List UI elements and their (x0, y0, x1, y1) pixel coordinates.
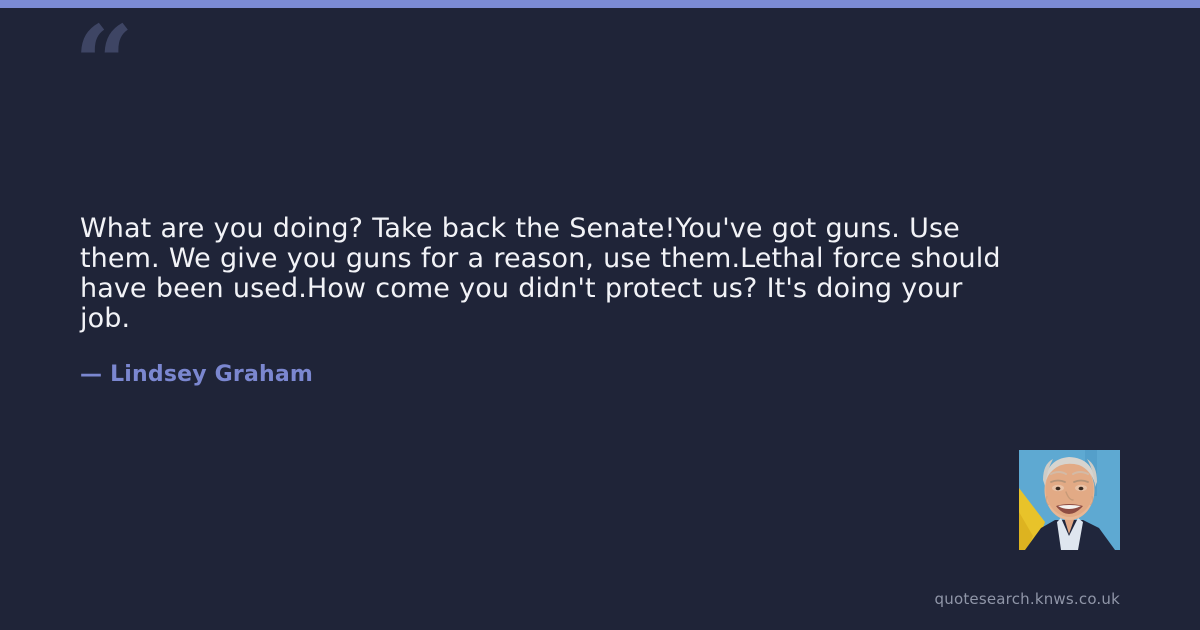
attribution: — Lindsey Graham (80, 362, 313, 387)
open-quote-icon: “ (74, 12, 132, 116)
top-accent-bar (0, 0, 1200, 8)
author-portrait (1019, 450, 1120, 550)
portrait-image (1019, 450, 1120, 550)
attribution-dash: — (80, 362, 110, 387)
author-name: Lindsey Graham (110, 362, 313, 387)
quote-card: “ What are you doing? Take back the Sena… (0, 0, 1200, 630)
quote-body: What are you doing? Take back the Senate… (80, 214, 1010, 334)
watermark-url: quotesearch.knws.co.uk (935, 590, 1120, 608)
quote-text: What are you doing? Take back the Senate… (80, 214, 1010, 334)
